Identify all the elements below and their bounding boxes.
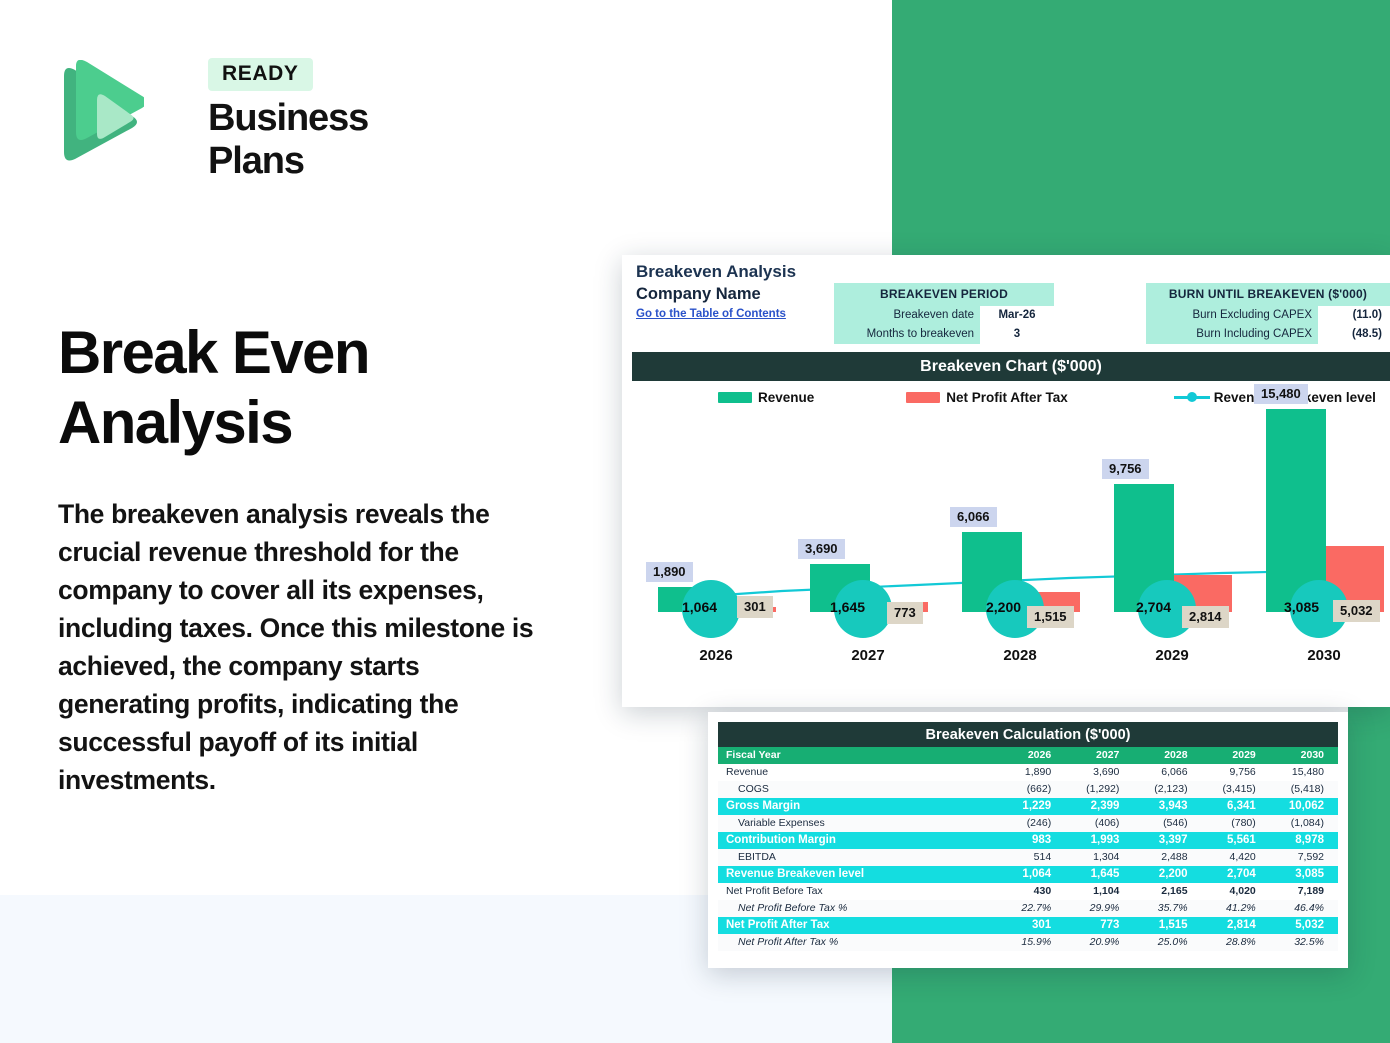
logo-wordmark: READY Business Plans	[208, 58, 458, 183]
revenue-label: 3,690	[798, 539, 845, 559]
table-cell: 430	[997, 883, 1065, 900]
legend-item-npat[interactable]: Net Profit After Tax	[906, 390, 1068, 405]
table-row: Breakeven date Mar-26	[834, 306, 1054, 325]
months-to-breakeven-value[interactable]: 3	[980, 325, 1054, 344]
breakeven-period-header: BREAKEVEN PERIOD	[834, 283, 1054, 306]
table-cell: 1,993	[1065, 832, 1133, 849]
table-cell: 1,645	[1065, 866, 1133, 883]
breakeven-line-marker-icon	[1174, 391, 1210, 403]
table-cell: 9,756	[1202, 764, 1270, 781]
revenue-label: 15,480	[1254, 384, 1308, 404]
table-row: Contribution Margin9831,9933,3975,5618,9…	[718, 832, 1338, 849]
table-cell: 2,488	[1133, 849, 1201, 866]
revenue-swatch-icon	[718, 392, 752, 403]
npat-swatch-icon	[906, 392, 940, 403]
burn-including-capex-value[interactable]: (48.5)	[1318, 325, 1390, 344]
table-cell: 3,397	[1133, 832, 1201, 849]
revenue-label: 1,890	[646, 562, 693, 582]
page-title: Break Even Analysis	[58, 318, 578, 458]
table-cell: 10,062	[1270, 798, 1338, 815]
sheet-title: Breakeven Analysis	[636, 262, 796, 282]
table-cell: 22.7%	[997, 900, 1065, 917]
table-cell: 2,704	[1202, 866, 1270, 883]
table-cell: 7,189	[1270, 883, 1338, 900]
breakeven-label: 1,645	[830, 599, 865, 615]
burn-until-breakeven-table: BURN UNTIL BREAKEVEN ($'000) Burn Exclud…	[1146, 283, 1390, 344]
table-cell: (546)	[1133, 815, 1201, 832]
table-cell: (3,415)	[1202, 781, 1270, 798]
row-label: Net Profit Before Tax %	[718, 900, 997, 917]
breakeven-label: 1,064	[682, 599, 717, 615]
row-label: Revenue	[718, 764, 997, 781]
table-cell: 25.0%	[1133, 934, 1201, 951]
breakeven-label: 2,200	[986, 599, 1021, 615]
legend-label-npat: Net Profit After Tax	[946, 390, 1068, 405]
legend-item-revenue[interactable]: Revenue	[718, 390, 814, 405]
legend-label-revenue: Revenue	[758, 390, 814, 405]
table-cell: 32.5%	[1270, 934, 1338, 951]
breakeven-calculation-table: Fiscal Year 2026 2027 2028 2029 2030 Rev…	[718, 747, 1338, 951]
table-row: Revenue Breakeven level1,0641,6452,2002,…	[718, 866, 1338, 883]
background-green-bottom	[892, 967, 1390, 1043]
column-header-2026: 2026	[997, 747, 1065, 764]
play-triangle-logo-icon	[58, 60, 144, 164]
table-cell: 3,943	[1133, 798, 1201, 815]
table-cell: 2,165	[1133, 883, 1201, 900]
table-cell: 15,480	[1270, 764, 1338, 781]
table-cell: 514	[997, 849, 1065, 866]
table-cell: 6,341	[1202, 798, 1270, 815]
table-cell: 3,690	[1065, 764, 1133, 781]
table-cell: 983	[997, 832, 1065, 849]
brand-logo[interactable]: READY Business Plans	[58, 58, 458, 168]
chart-title: Breakeven Chart ($'000)	[632, 352, 1390, 381]
table-cell: (1,292)	[1065, 781, 1133, 798]
table-cell: (406)	[1065, 815, 1133, 832]
page-description: The breakeven analysis reveals the cruci…	[58, 495, 548, 799]
category-label: 2028	[944, 647, 1096, 664]
chart-category-2030: 15,480 3,085 5,032 2030	[1248, 415, 1390, 700]
npat-label: 773	[887, 602, 923, 624]
burn-until-breakeven-header: BURN UNTIL BREAKEVEN ($'000)	[1146, 283, 1390, 306]
table-cell: 29.9%	[1065, 900, 1133, 917]
chart-plot-area: 1,890 1,064 301 2026 3,690 1,645 773 202…	[632, 415, 1390, 700]
revenue-label: 9,756	[1102, 459, 1149, 479]
table-cell: 7,592	[1270, 849, 1338, 866]
breakeven-calculation-panel: Breakeven Calculation ($'000) Fiscal Yea…	[708, 712, 1348, 968]
category-label: 2026	[640, 647, 792, 664]
company-name: Company Name	[636, 285, 761, 304]
table-cell: 1,064	[997, 866, 1065, 883]
chart-category-2028: 6,066 2,200 1,515 2028	[944, 415, 1096, 700]
chart-category-2027: 3,690 1,645 773 2027	[792, 415, 944, 700]
table-cell: 5,561	[1202, 832, 1270, 849]
table-row: Burn Excluding CAPEX (11.0)	[1146, 306, 1390, 325]
row-label: Revenue Breakeven level	[718, 866, 997, 883]
table-row: Revenue1,8903,6906,0669,75615,480	[718, 764, 1338, 781]
table-cell: 20.9%	[1065, 934, 1133, 951]
ready-badge: READY	[208, 58, 313, 91]
breakeven-label: 3,085	[1284, 599, 1319, 615]
table-cell: (662)	[997, 781, 1065, 798]
column-header-2029: 2029	[1202, 747, 1270, 764]
table-cell: 4,420	[1202, 849, 1270, 866]
table-cell: 2,200	[1133, 866, 1201, 883]
table-header-row: Fiscal Year 2026 2027 2028 2029 2030	[718, 747, 1338, 764]
table-cell: 3,085	[1270, 866, 1338, 883]
row-label: Net Profit Before Tax	[718, 883, 997, 900]
row-label: Contribution Margin	[718, 832, 997, 849]
table-cell: 773	[1065, 917, 1133, 934]
table-cell: 41.2%	[1202, 900, 1270, 917]
column-header-2030: 2030	[1270, 747, 1338, 764]
npat-label: 2,814	[1182, 606, 1229, 628]
breakeven-date-label: Breakeven date	[834, 306, 980, 325]
table-cell: 1,104	[1065, 883, 1133, 900]
calc-table-title: Breakeven Calculation ($'000)	[718, 722, 1338, 747]
breakeven-date-value[interactable]: Mar-26	[980, 306, 1054, 325]
poster-canvas: READY Business Plans Break Even Analysis…	[0, 0, 1390, 1043]
brand-name: Business Plans	[208, 97, 458, 183]
breakeven-chart-panel: Breakeven Analysis Company Name Go to th…	[622, 255, 1390, 707]
table-row: Net Profit Before Tax %22.7%29.9%35.7%41…	[718, 900, 1338, 917]
table-cell: 2,814	[1202, 917, 1270, 934]
table-row: EBITDA5141,3042,4884,4207,592	[718, 849, 1338, 866]
table-row: Months to breakeven 3	[834, 325, 1054, 344]
background-green-top	[892, 0, 1390, 258]
table-cell: 35.7%	[1133, 900, 1201, 917]
table-cell: (1,084)	[1270, 815, 1338, 832]
table-cell: (780)	[1202, 815, 1270, 832]
row-label: COGS	[718, 781, 997, 798]
category-label: 2029	[1096, 647, 1248, 664]
burn-excluding-capex-value[interactable]: (11.0)	[1318, 306, 1390, 325]
table-row: Net Profit After Tax %15.9%20.9%25.0%28.…	[718, 934, 1338, 951]
table-cell: 4,020	[1202, 883, 1270, 900]
table-cell: 1,229	[997, 798, 1065, 815]
npat-label: 1,515	[1027, 606, 1074, 628]
category-label: 2030	[1248, 647, 1390, 664]
table-row: Gross Margin1,2292,3993,9436,34110,062	[718, 798, 1338, 815]
column-header-fiscal-year: Fiscal Year	[718, 747, 997, 764]
table-of-contents-link[interactable]: Go to the Table of Contents	[636, 308, 786, 320]
table-cell: 28.8%	[1202, 934, 1270, 951]
table-row: Net Profit Before Tax4301,1042,1654,0207…	[718, 883, 1338, 900]
chart-category-2026: 1,890 1,064 301 2026	[640, 415, 792, 700]
breakeven-period-table: BREAKEVEN PERIOD Breakeven date Mar-26 M…	[834, 283, 1054, 344]
row-label: Net Profit After Tax %	[718, 934, 997, 951]
row-label: Gross Margin	[718, 798, 997, 815]
burn-including-capex-label: Burn Including CAPEX	[1146, 325, 1318, 344]
table-cell: 5,032	[1270, 917, 1338, 934]
months-to-breakeven-label: Months to breakeven	[834, 325, 980, 344]
table-cell: 46.4%	[1270, 900, 1338, 917]
table-cell: 1,515	[1133, 917, 1201, 934]
table-cell: 6,066	[1133, 764, 1201, 781]
npat-label: 5,032	[1333, 600, 1380, 622]
table-row: Burn Including CAPEX (48.5)	[1146, 325, 1390, 344]
chart-category-2029: 9,756 2,704 2,814 2029	[1096, 415, 1248, 700]
table-cell: 2,399	[1065, 798, 1133, 815]
column-header-2028: 2028	[1133, 747, 1201, 764]
breakeven-label: 2,704	[1136, 599, 1171, 615]
table-cell: (2,123)	[1133, 781, 1201, 798]
table-cell: 1,890	[997, 764, 1065, 781]
table-cell: 301	[997, 917, 1065, 934]
burn-excluding-capex-label: Burn Excluding CAPEX	[1146, 306, 1318, 325]
table-cell: 15.9%	[997, 934, 1065, 951]
row-label: Variable Expenses	[718, 815, 997, 832]
column-header-2027: 2027	[1065, 747, 1133, 764]
table-row: Variable Expenses(246)(406)(546)(780)(1,…	[718, 815, 1338, 832]
table-row: Net Profit After Tax3017731,5152,8145,03…	[718, 917, 1338, 934]
revenue-label: 6,066	[950, 507, 997, 527]
category-label: 2027	[792, 647, 944, 664]
table-cell: (246)	[997, 815, 1065, 832]
row-label: Net Profit After Tax	[718, 917, 997, 934]
row-label: EBITDA	[718, 849, 997, 866]
table-row: COGS(662)(1,292)(2,123)(3,415)(5,418)	[718, 781, 1338, 798]
table-cell: 8,978	[1270, 832, 1338, 849]
table-cell: 1,304	[1065, 849, 1133, 866]
npat-label: 301	[737, 596, 773, 618]
table-cell: (5,418)	[1270, 781, 1338, 798]
